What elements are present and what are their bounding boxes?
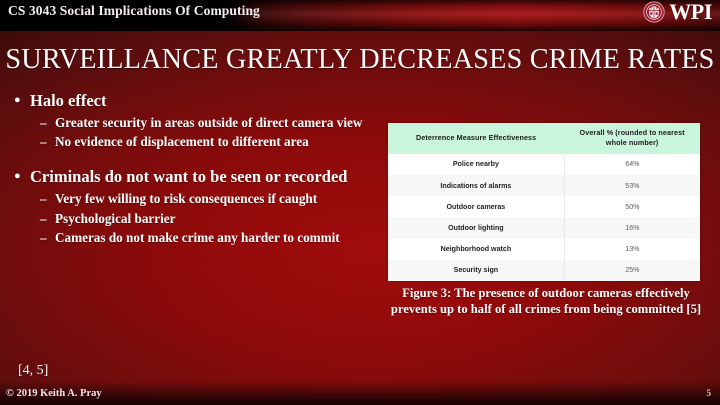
copyright-label: © 2019 Keith A. Pray — [6, 388, 102, 399]
bullet-dot-icon: ● — [14, 92, 30, 109]
table-cell-measure: Outdoor cameras — [388, 196, 564, 217]
course-title: CS 3043 Social Implications Of Computing — [8, 3, 260, 19]
bullet-level2-label: Very few willing to risk consequences if… — [55, 191, 396, 206]
table-col-measure: Deterrence Measure Effectiveness — [388, 123, 564, 154]
table-cell-measure: Outdoor lighting — [388, 217, 564, 238]
bullet-dash-icon: – — [40, 191, 55, 206]
table-cell-percent: 25% — [564, 260, 700, 281]
table-cell-percent: 53% — [564, 175, 700, 196]
page-title: SURVEILLANCE GREATLY DECREASES CRIME RAT… — [4, 44, 717, 76]
bullet-level2: – Cameras do not make crime any harder t… — [40, 230, 396, 245]
deterrence-table: Deterrence Measure Effectiveness Overall… — [388, 123, 700, 281]
table-header-row: Deterrence Measure Effectiveness Overall… — [388, 123, 700, 154]
bullet-level2: – Psychological barrier — [40, 211, 396, 226]
bullet-level1-label: Halo effect — [30, 92, 396, 111]
bullet-level2: – No evidence of displacement to differe… — [40, 134, 396, 149]
bullet-level1: ● Halo effect — [14, 92, 396, 111]
page-number: 5 — [707, 388, 712, 398]
table-row: Outdoor cameras 50% — [388, 196, 700, 217]
bullet-dash-icon: – — [40, 211, 55, 226]
wpi-logo: WPI — [643, 1, 712, 23]
wpi-wordmark: WPI — [669, 1, 712, 23]
bullet-dash-icon: – — [40, 134, 55, 149]
bullet-level2: – Very few willing to risk consequences … — [40, 191, 396, 206]
bottom-shading — [0, 381, 720, 405]
bullet-group-spacer — [14, 151, 396, 168]
bullet-level1: ● Criminals do not want to be seen or re… — [14, 168, 396, 187]
bullet-dash-icon: – — [40, 230, 55, 245]
slide-canvas: CS 3043 Social Implications Of Computing… — [0, 0, 720, 405]
bullet-list: ● Halo effect – Greater security in area… — [14, 92, 396, 247]
table-cell-measure: Indications of alarms — [388, 175, 564, 196]
table-cell-measure: Police nearby — [388, 154, 564, 175]
bullet-dash-icon: – — [40, 115, 55, 130]
wpi-seal-icon — [643, 1, 665, 23]
table-row: Outdoor lighting 16% — [388, 217, 700, 238]
table-cell-percent: 50% — [564, 196, 700, 217]
table-row: Indications of alarms 53% — [388, 175, 700, 196]
table-row: Security sign 25% — [388, 260, 700, 281]
table-cell-percent: 13% — [564, 239, 700, 260]
table-row: Police nearby 64% — [388, 154, 700, 175]
bullet-level2-label: No evidence of displacement to different… — [55, 134, 396, 149]
references-label: [4, 5] — [18, 363, 48, 379]
table-cell-percent: 64% — [564, 154, 700, 175]
table-row: Neighborhood watch 13% — [388, 239, 700, 260]
table-cell-measure: Security sign — [388, 260, 564, 281]
bullet-level2-label: Cameras do not make crime any harder to … — [55, 230, 396, 245]
bullet-dot-icon: ● — [14, 168, 30, 185]
table-col-percent: Overall % (rounded to nearest whole numb… — [564, 123, 700, 154]
bullet-level1-label: Criminals do not want to be seen or reco… — [30, 168, 396, 187]
bullet-level2: – Greater security in areas outside of d… — [40, 115, 396, 130]
figure-caption: Figure 3: The presence of outdoor camera… — [386, 286, 706, 317]
table-cell-percent: 16% — [564, 217, 700, 238]
bullet-level2-label: Psychological barrier — [55, 211, 396, 226]
table-cell-measure: Neighborhood watch — [388, 239, 564, 260]
bullet-level2-label: Greater security in areas outside of dir… — [55, 115, 396, 130]
